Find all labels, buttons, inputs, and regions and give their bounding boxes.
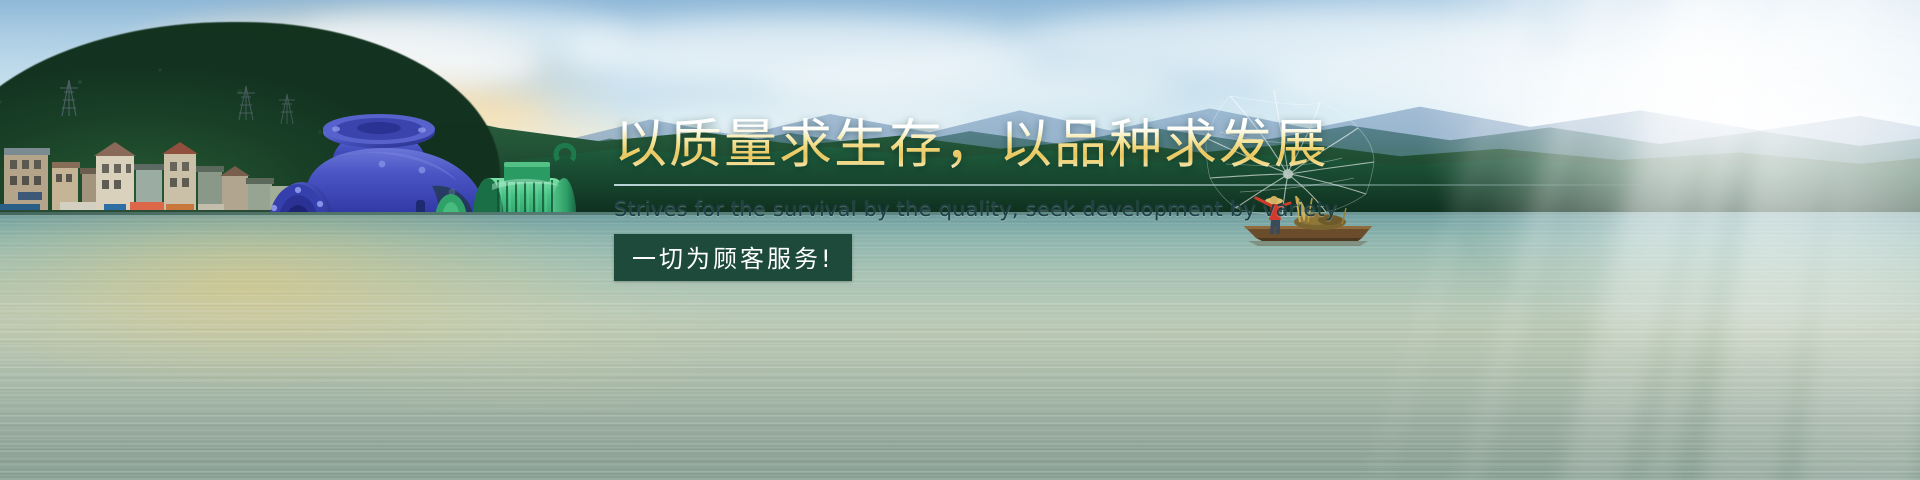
power-pylon-icon: [56, 78, 82, 118]
banner-copy: 以质量求生存，以品种求发展 Strives for the survival b…: [614, 118, 1794, 281]
headline-divider: [614, 184, 1644, 186]
water-ripple-texture-far: [0, 300, 1920, 480]
service-slogan-badge: 一切为顾客服务!: [614, 234, 852, 281]
banner-subline: Strives for the survival by the quality,…: [614, 197, 1794, 221]
hero-banner: 以质量求生存，以品种求发展 Strives for the survival b…: [0, 0, 1920, 480]
banner-headline: 以质量求生存，以品种求发展: [614, 118, 1794, 171]
